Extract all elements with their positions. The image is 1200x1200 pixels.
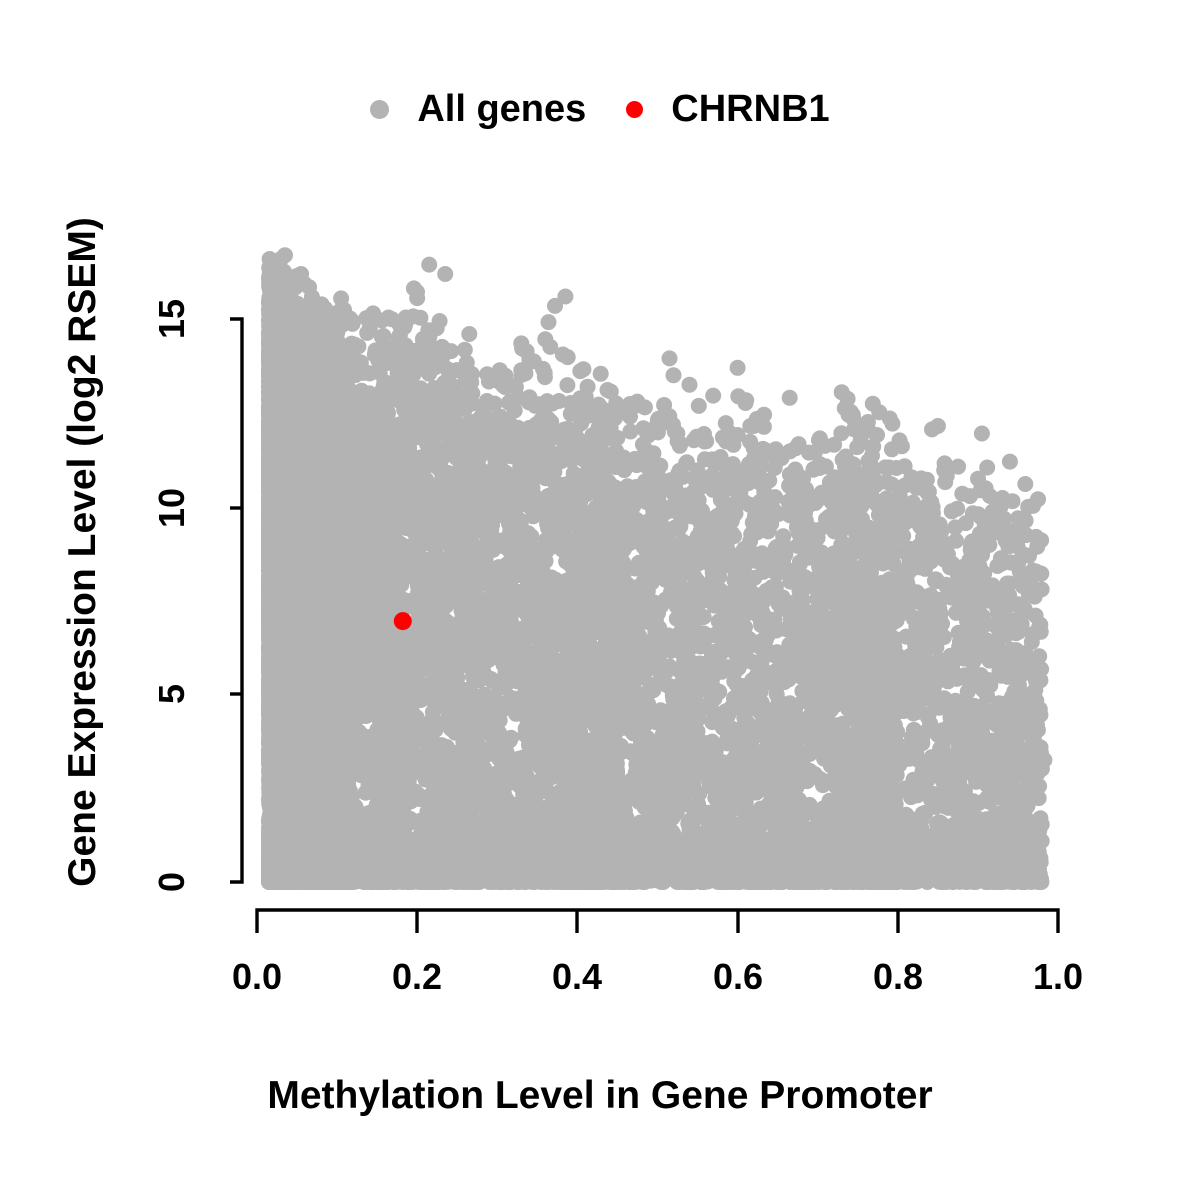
- data-point-all-genes: [541, 314, 557, 330]
- scatter-plot-figure: All genes CHRNB1 0.0 0.2 0.4 0.6 0.8 1.0…: [0, 0, 1200, 1200]
- data-point-all-genes: [865, 396, 881, 412]
- data-point-all-genes: [537, 331, 553, 347]
- data-points-layer: [261, 247, 1052, 890]
- plot-canvas: [0, 0, 1200, 1200]
- data-point-all-genes: [691, 398, 707, 414]
